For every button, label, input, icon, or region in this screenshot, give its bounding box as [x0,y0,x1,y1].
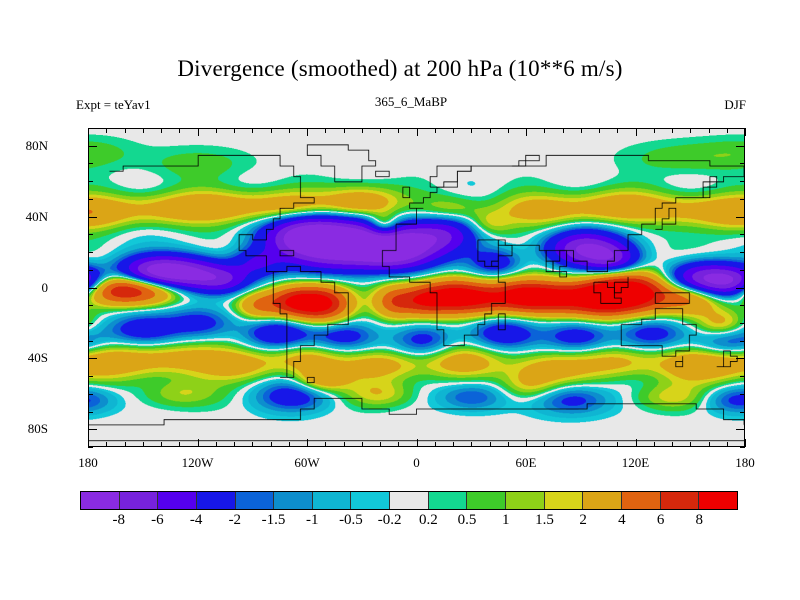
axis-tick [344,128,345,133]
chart-title: Divergence (smoothed) at 200 hPa (10**6 … [0,56,800,82]
axis-tick [88,128,93,129]
y-axis-tick-label: 0 [42,280,49,296]
axis-tick [88,447,93,448]
axis-tick [88,288,97,289]
colorbar-band [467,492,506,509]
axis-tick [599,442,600,447]
axis-tick [234,442,235,447]
colorbar-band [313,492,352,509]
axis-tick [88,394,93,395]
axis-tick [234,128,235,133]
axis-tick [88,439,89,447]
colorbar-band [351,492,390,509]
axis-tick [88,305,93,306]
axis-tick [740,376,745,377]
y-axis-tick-label: 80S [28,421,48,437]
axis-tick [581,128,582,133]
colorbar-tick-label: -4 [190,512,203,529]
axis-tick [740,341,745,342]
axis-tick [88,199,93,200]
colorbar-tick-label: 0.5 [458,512,477,529]
axis-tick [740,181,745,182]
x-axis-tick-label: 180 [735,455,755,471]
axis-tick [740,447,745,448]
axis-tick [88,234,93,235]
colorbar-tick-label: -1.5 [262,512,286,529]
axis-tick [435,442,436,447]
axis-tick [106,128,107,133]
axis-tick [740,163,745,164]
map-plot-area [88,128,745,447]
colorbar-band [429,492,468,509]
axis-tick [563,128,564,133]
axis-tick [88,217,97,218]
x-axis-tick-label: 60E [516,455,537,471]
colorbar-band [158,492,197,509]
colorbar-tick-label: 1 [502,512,510,529]
axis-tick [380,442,381,447]
axis-tick [636,128,637,136]
axis-tick [544,128,545,133]
colorbar-tick-label: 4 [618,512,626,529]
axis-tick [740,323,745,324]
axis-tick [307,128,308,136]
axis-tick [161,442,162,447]
axis-tick [740,234,745,235]
axis-tick [271,442,272,447]
axis-tick [581,442,582,447]
axis-tick [740,305,745,306]
axis-tick [690,442,691,447]
x-axis-tick-label: 120W [182,455,214,471]
axis-tick [88,323,93,324]
axis-tick [88,128,89,136]
colorbar-band [274,492,313,509]
colorbar-band [236,492,275,509]
axis-tick [690,128,691,133]
axis-tick [88,252,93,253]
colorbar-band [390,492,429,509]
axis-tick [362,128,363,133]
axis-tick [362,442,363,447]
axis-tick [736,288,745,289]
axis-tick [88,163,93,164]
y-axis-tick-label: 80N [26,138,48,154]
axis-tick [125,442,126,447]
colorbar-band [197,492,236,509]
divergence-contour-map [89,129,744,446]
axis-tick [490,128,491,133]
axis-tick [88,358,97,359]
axis-tick [740,128,745,129]
colorbar-tick-label: -0.2 [378,512,402,529]
dataset-label: 365_6_MaBP [76,94,746,110]
colorbar-tick-label: 1.5 [535,512,554,529]
axis-tick [143,442,144,447]
colorbar-tick-label: -6 [151,512,164,529]
axis-tick [740,412,745,413]
axis-tick [106,442,107,447]
axis-tick [736,358,745,359]
axis-tick [344,442,345,447]
axis-tick [88,429,97,430]
axis-tick [563,442,564,447]
axis-tick [508,442,509,447]
axis-tick [526,128,527,136]
axis-tick [654,128,655,133]
season-label: DJF [724,97,746,113]
axis-tick [740,252,745,253]
axis-tick [398,442,399,447]
axis-tick [125,128,126,133]
axis-tick [398,128,399,133]
axis-tick [307,439,308,447]
axis-tick [672,128,673,133]
colorbar-band [545,492,584,509]
colorbar-tick-label: 0.2 [419,512,438,529]
axis-tick [325,442,326,447]
axis-tick [216,442,217,447]
axis-tick [179,442,180,447]
axis-tick [727,442,728,447]
colorbar-band [81,492,120,509]
axis-tick [216,128,217,133]
colorbar-band [583,492,622,509]
axis-tick [740,270,745,271]
colorbar-tick-labels: -8-6-4-2-1.5-1-0.5-0.20.20.511.52468 [80,512,738,532]
axis-tick [88,146,97,147]
axis-tick [198,439,199,447]
axis-tick [471,442,472,447]
axis-tick [88,181,93,182]
axis-tick [88,270,93,271]
y-axis-tick-label: 40S [28,350,48,366]
x-axis-tick-label: 120E [622,455,649,471]
axis-tick [736,429,745,430]
colorbar [80,491,738,510]
axis-tick [161,128,162,133]
axis-tick [252,442,253,447]
axis-tick [736,146,745,147]
axis-tick [88,341,93,342]
axis-tick [599,128,600,133]
subtitle-row: Expt = teYav1 365_6_MaBP DJF [76,97,746,115]
axis-tick [617,128,618,133]
figure-canvas: Divergence (smoothed) at 200 hPa (10**6 … [0,0,800,600]
axis-tick [271,128,272,133]
axis-tick [654,442,655,447]
axis-tick [88,412,93,413]
axis-tick [617,442,618,447]
axis-tick [471,128,472,133]
axis-tick [417,128,418,136]
axis-tick [417,439,418,447]
colorbar-tick-label: -2 [229,512,242,529]
axis-tick [544,442,545,447]
axis-tick [745,128,746,136]
axis-tick [727,128,728,133]
axis-tick [453,128,454,133]
axis-tick [289,442,290,447]
x-axis-tick-label: 60W [294,455,319,471]
colorbar-band [622,492,661,509]
y-axis-tick-label: 40N [26,209,48,225]
colorbar-band [661,492,700,509]
colorbar-tick-label: 8 [696,512,704,529]
axis-tick [736,217,745,218]
axis-tick [289,128,290,133]
colorbar-band [120,492,159,509]
axis-tick [380,128,381,133]
colorbar-tick-label: -0.5 [339,512,363,529]
axis-tick [740,199,745,200]
colorbar-tick-label: -1 [306,512,319,529]
colorbar-tick-label: 2 [579,512,587,529]
axis-tick [508,128,509,133]
axis-tick [435,128,436,133]
axis-tick [88,376,93,377]
axis-tick [709,442,710,447]
axis-tick [490,442,491,447]
axis-tick [453,442,454,447]
axis-tick [198,128,199,136]
x-axis-tick-label: 0 [413,455,420,471]
axis-tick [252,128,253,133]
colorbar-band [506,492,545,509]
axis-tick [672,442,673,447]
colorbar-tick-label: -8 [112,512,125,529]
axis-tick [143,128,144,133]
colorbar-bands [80,491,738,510]
axis-tick [179,128,180,133]
axis-tick [636,439,637,447]
colorbar-band [699,492,737,509]
colorbar-tick-label: 6 [657,512,665,529]
axis-tick [745,439,746,447]
x-axis-tick-label: 180 [78,455,98,471]
axis-tick [709,128,710,133]
axis-tick [526,439,527,447]
axis-tick [740,394,745,395]
axis-tick [325,128,326,133]
